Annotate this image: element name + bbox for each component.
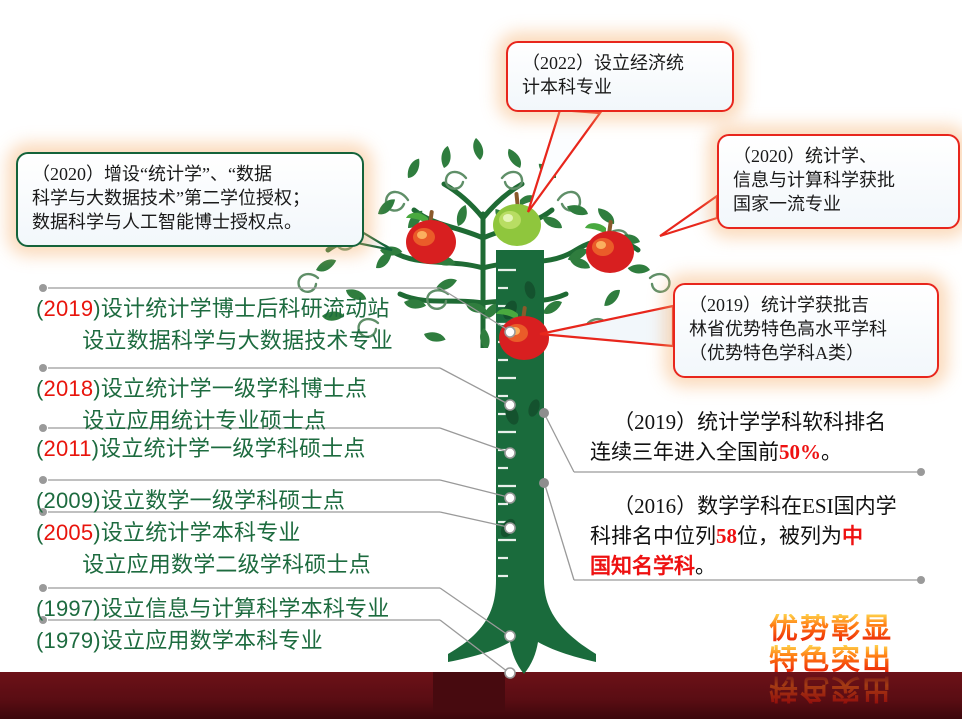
note-2016-esi[interactable]: （2016）数学学科在ESI国内学 科排名中位列58位，被列为中 国知名学科。: [590, 492, 930, 581]
timeline-text-2005-a: 设立统计学本科专业: [101, 520, 301, 545]
timeline-item-2005-line-1: (2005)设立统计学本科专业: [36, 515, 371, 547]
timeline-item-2005[interactable]: (2005)设立统计学本科专业 设立应用数学二级学科硕士点: [36, 515, 371, 579]
callout-2020-right-line-2: 信息与计算科学获批: [733, 169, 944, 193]
slogan-line-1: 优势彰显: [736, 614, 926, 645]
callout-2020-right-line-3: 国家一流专业: [733, 193, 944, 217]
timeline-text-2019-a: 设计统计学博士后科研流动站: [101, 296, 390, 321]
timeline-item-2018[interactable]: (2018)设立统计学一级学科博士点 设立应用统计专业硕士点: [36, 371, 367, 435]
callout-2022[interactable]: （2022）设立经济统 计本科专业: [506, 41, 734, 112]
timeline-item-2018-line-1: (2018)设立统计学一级学科博士点: [36, 371, 367, 403]
note-2019-rank[interactable]: （2019）统计学学科软科排名 连续三年进入全国前50%。: [590, 408, 930, 468]
slogan-reflection: 特色突出: [736, 673, 926, 704]
timeline-item-1979[interactable]: (1979)设立应用数学本科专业: [36, 623, 323, 655]
timeline-item-1997-line-1: (1997)设立信息与计算科学本科专业: [36, 591, 389, 623]
note-2016-esi-line-3: 国知名学科。: [590, 552, 930, 582]
timeline-year-2018: 2018: [44, 376, 94, 401]
timeline-item-2005-line-2: 设立应用数学二级学科硕士点: [36, 547, 371, 579]
slide-canvas: （2022）设立经济统 计本科专业 （2020）统计学、 信息与计算科学获批 国…: [0, 0, 962, 719]
timeline-item-2011[interactable]: (2011)设立统计学一级学科硕士点: [36, 431, 366, 463]
callout-2019-right-line-3: （优势特色学科A类）: [689, 342, 923, 366]
timeline-year-2005: 2005: [44, 520, 94, 545]
timeline-left: (2019)设计统计学博士后科研流动站 设立数据科学与大数据技术专业 (2018…: [0, 0, 520, 719]
timeline-item-2011-line-1: (2011)设立统计学一级学科硕士点: [36, 431, 366, 463]
timeline-item-2009[interactable]: (2009)设立数学一级学科硕士点: [36, 483, 345, 515]
timeline-text-2011-a: 设立统计学一级学科硕士点: [99, 436, 365, 461]
callout-2022-line-1: （2022）设立经济统: [522, 52, 718, 76]
timeline-item-2019-line-2: 设立数据科学与大数据技术专业: [36, 323, 393, 355]
slogan-line-2: 特色突出: [736, 645, 926, 676]
timeline-year-2011: 2011: [44, 436, 92, 461]
note-2019-rank-line-2: 连续三年进入全国前50%。: [590, 438, 930, 468]
timeline-item-2019-line-1: (2019)设计统计学博士后科研流动站: [36, 291, 393, 323]
timeline-item-1997[interactable]: (1997)设立信息与计算科学本科专业: [36, 591, 389, 623]
note-2016-esi-line-1: （2016）数学学科在ESI国内学: [590, 492, 930, 522]
timeline-year-1997: 1997: [44, 596, 94, 621]
note-2016-esi-line-2: 科排名中位列58位，被列为中: [590, 522, 930, 552]
callout-2020-right-line-1: （2020）统计学、: [733, 145, 944, 169]
timeline-year-2019: 2019: [44, 296, 94, 321]
callout-2019-right-line-1: （2019）统计学获批吉: [689, 294, 923, 318]
timeline-text-1997-a: 设立信息与计算科学本科专业: [101, 596, 390, 621]
timeline-item-2019[interactable]: (2019)设计统计学博士后科研流动站 设立数据科学与大数据技术专业: [36, 291, 393, 355]
note-2019-rank-line-1: （2019）统计学学科软科排名: [590, 408, 930, 438]
timeline-item-2009-line-1: (2009)设立数学一级学科硕士点: [36, 483, 345, 515]
timeline-year-2009: 2009: [44, 488, 94, 513]
callout-2019-right-line-2: 林省优势特色高水平学科: [689, 318, 923, 342]
note-2016-esi-rank: 58: [716, 524, 737, 548]
timeline-year-1979: 1979: [44, 628, 94, 653]
callout-2022-line-2: 计本科专业: [522, 76, 718, 100]
slogan: 优势彰显 特色突出 特色突出: [736, 614, 926, 714]
callout-2020-right[interactable]: （2020）统计学、 信息与计算科学获批 国家一流专业: [717, 134, 960, 229]
timeline-text-2018-a: 设立统计学一级学科博士点: [101, 376, 367, 401]
timeline-item-1979-line-1: (1979)设立应用数学本科专业: [36, 623, 323, 655]
timeline-text-2009-a: 设立数学一级学科硕士点: [101, 488, 345, 513]
callout-2019-right[interactable]: （2019）统计学获批吉 林省优势特色高水平学科 （优势特色学科A类）: [673, 283, 939, 378]
note-2019-rank-highlight: 50%: [779, 440, 821, 464]
timeline-text-1979-a: 设立应用数学本科专业: [101, 628, 323, 653]
